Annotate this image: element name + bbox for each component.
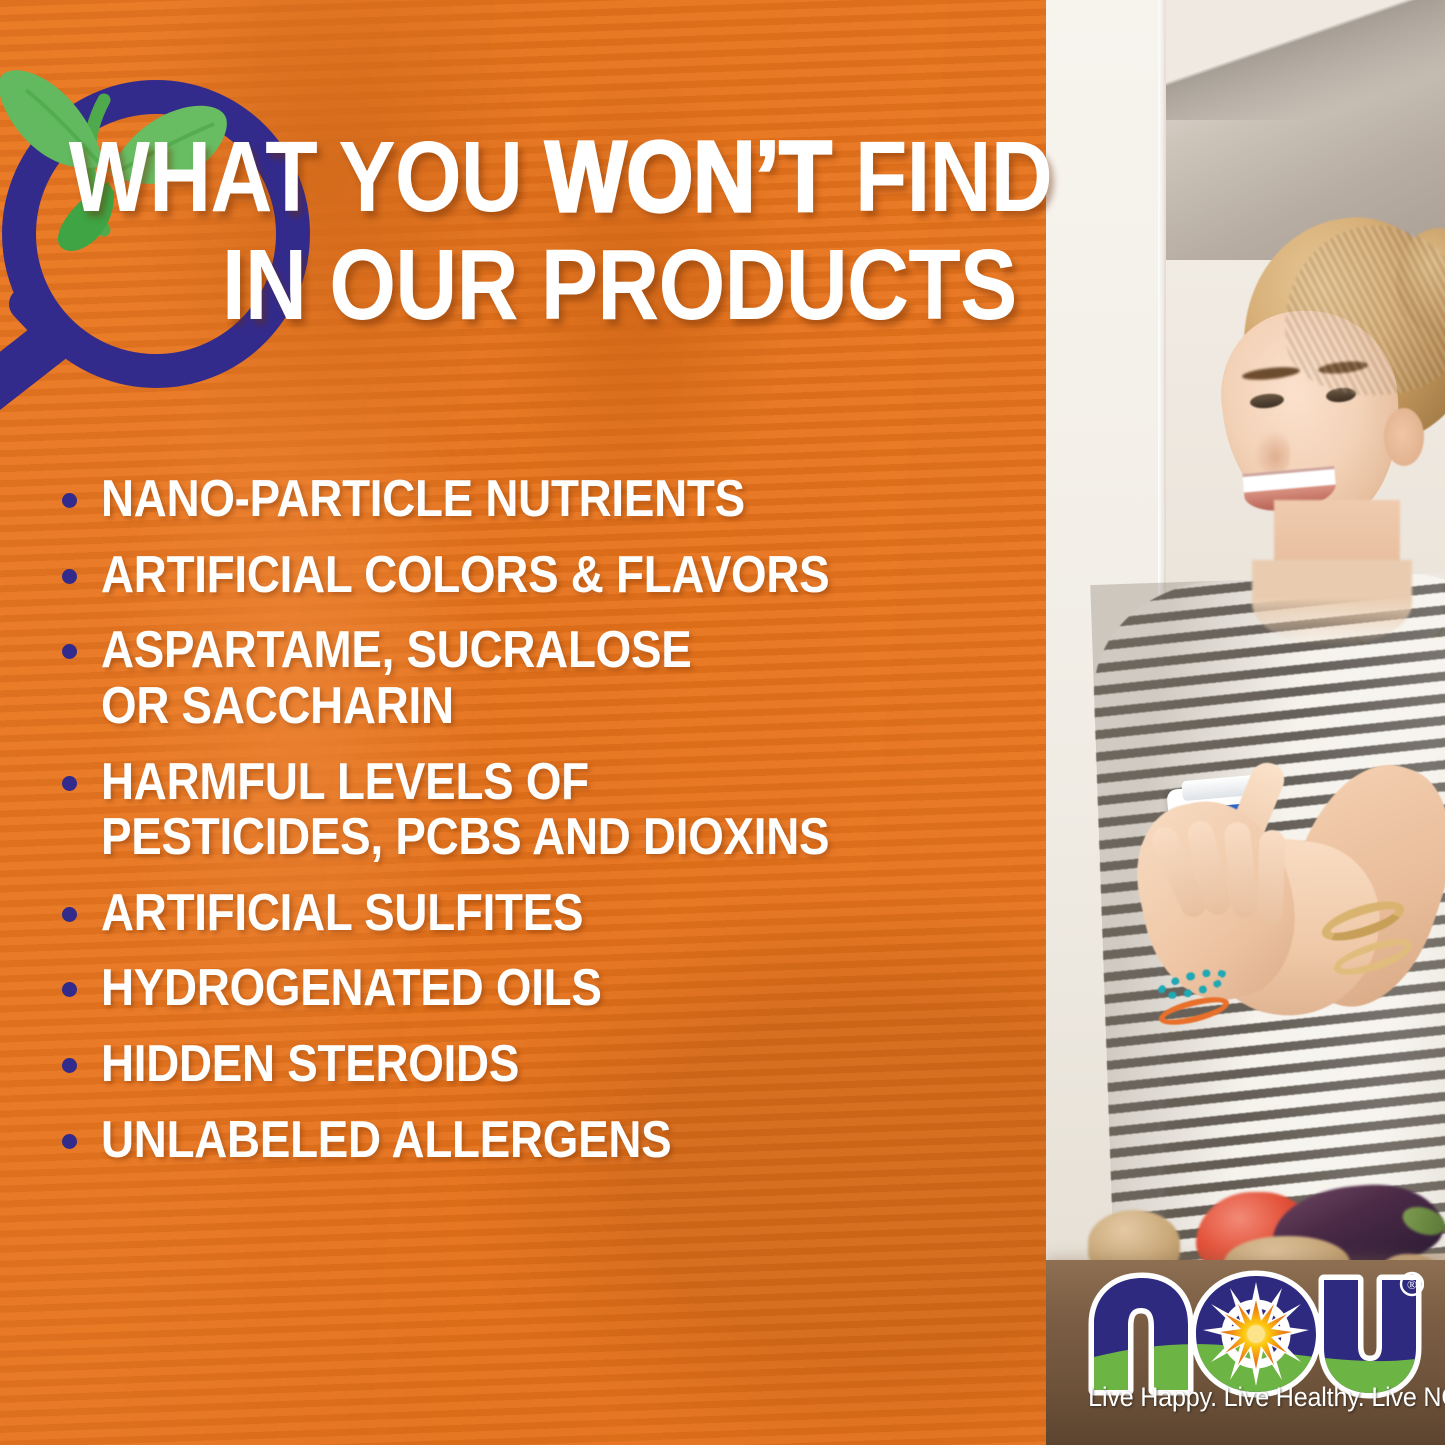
exclusions-list: NANO-PARTICLE NUTRIENTS ARTIFICIAL COLOR… (62, 472, 1052, 1188)
list-item-label: HARMFUL LEVELS OF PESTICIDES, PCBS AND D… (101, 755, 829, 866)
list-item: ARTIFICIAL SULFITES (62, 886, 1052, 942)
list-item-label: UNLABELED ALLERGENS (101, 1113, 671, 1169)
list-item-label: NANO-PARTICLE NUTRIENTS (101, 472, 745, 528)
headline-line-1: WHAT YOU WON’T FIND (0, 128, 1221, 226)
headline-line-2: IN OUR PRODUCTS (0, 236, 1221, 334)
headline-text-pre: WHAT YOU (69, 121, 545, 233)
bullet-dot-icon (62, 1058, 77, 1073)
promo-graphic: WHAT YOU WON’T FIND IN OUR PRODUCTS NANO… (0, 0, 1445, 1445)
list-item-label: ASPARTAME, SUCRALOSE OR SACCHARIN (101, 623, 691, 734)
bullet-dot-icon (62, 644, 77, 659)
list-item: ASPARTAME, SUCRALOSE OR SACCHARIN (62, 623, 1052, 734)
list-item: UNLABELED ALLERGENS (62, 1113, 1052, 1169)
list-item-label: ARTIFICIAL SULFITES (101, 886, 583, 942)
page-title: WHAT YOU WON’T FIND IN OUR PRODUCTS (0, 128, 1221, 334)
list-item: NANO-PARTICLE NUTRIENTS (62, 472, 1052, 528)
list-item: HARMFUL LEVELS OF PESTICIDES, PCBS AND D… (62, 755, 1052, 866)
bullet-dot-icon (62, 569, 77, 584)
bullet-dot-icon (62, 1134, 77, 1149)
list-item: HYDROGENATED OILS (62, 961, 1052, 1017)
bullet-dot-icon (62, 493, 77, 508)
list-item: ARTIFICIAL COLORS & FLAVORS (62, 548, 1052, 604)
bullet-dot-icon (62, 982, 77, 997)
list-item-label: HIDDEN STEROIDS (101, 1037, 519, 1093)
wall-corner-shadow (1166, 0, 1445, 120)
ear (1384, 408, 1424, 466)
headline-emphasis: WON’T (545, 121, 832, 233)
nose (1254, 430, 1290, 474)
shirt-neckline (1252, 560, 1412, 646)
list-item: HIDDEN STEROIDS (62, 1037, 1052, 1093)
list-item-label: HYDROGENATED OILS (101, 961, 602, 1017)
headline-text-post: FIND (832, 121, 1052, 233)
bullet-dot-icon (62, 776, 77, 791)
bullet-dot-icon (62, 907, 77, 922)
svg-text:®: ® (1407, 1277, 1417, 1292)
logo-tagline: Live Happy. Live Healthy. Live NOW. (1088, 1382, 1412, 1413)
list-item-label: ARTIFICIAL COLORS & FLAVORS (101, 548, 829, 604)
finger (1256, 830, 1285, 927)
